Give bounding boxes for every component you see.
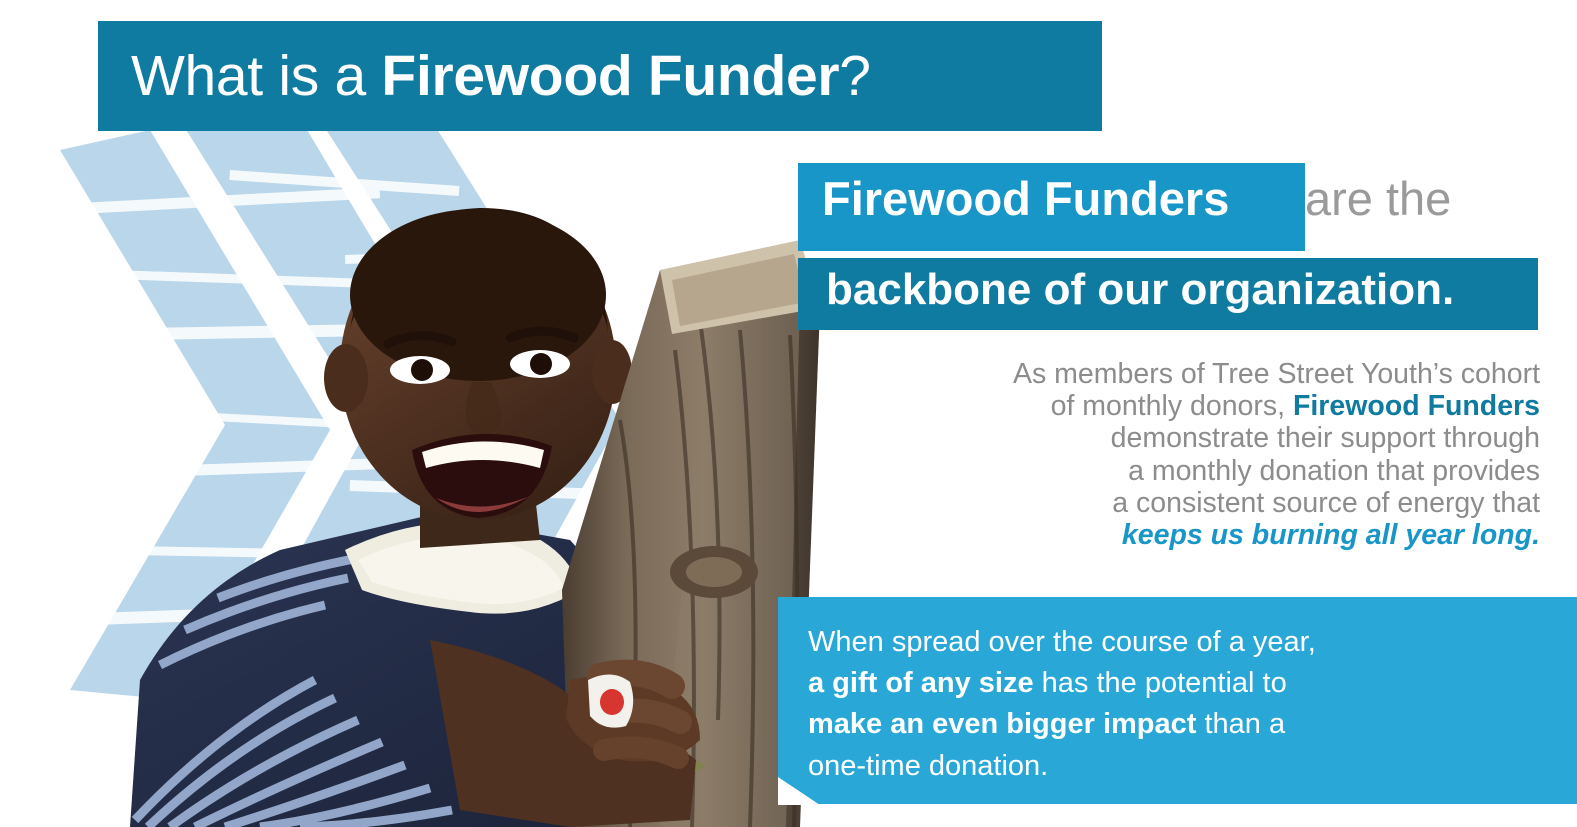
page-title: What is a Firewood Funder? <box>131 48 871 105</box>
bottom-line-2-tail: has the potential to <box>1034 667 1287 699</box>
body-line-1: As members of Tree Street Youth’s cohort <box>880 358 1540 390</box>
body-line-2: of monthly donors, Firewood Funders <box>880 390 1540 422</box>
body-line-5: a consistent source of energy that <box>880 487 1540 519</box>
headline-emphasis: Firewood Funders <box>822 175 1229 222</box>
body-line-4: a monthly donation that provides <box>880 455 1540 487</box>
poster-title-bar: What is a Firewood Funder? <box>98 21 1102 131</box>
body-line-3: demonstrate their support through <box>880 422 1540 454</box>
title-highlight: Firewood Funder <box>381 44 839 108</box>
body-line-6-tagline: keeps us burning all year long. <box>880 519 1540 551</box>
bottom-panel-text: When spread over the course of a year, a… <box>808 622 1508 787</box>
body-line-2-emphasis: Firewood Funders <box>1293 390 1540 422</box>
body-line-2-lead: of monthly donors, <box>1051 390 1293 422</box>
bottom-line-2-emphasis: a gift of any size <box>808 667 1034 699</box>
bottom-line-3: make an even bigger impact than a <box>808 704 1508 745</box>
poster-root: What is a Firewood Funder? Firewood Fund… <box>0 0 1577 827</box>
bottom-line-1: When spread over the course of a year, <box>808 622 1508 663</box>
bottom-line-3-emphasis: make an even bigger impact <box>808 708 1196 740</box>
bottom-line-3-tail: than a <box>1196 708 1285 740</box>
bottom-line-4: one-time donation. <box>808 746 1508 787</box>
headline-tail: are the <box>1305 175 1451 222</box>
bottom-line-2: a gift of any size has the potential to <box>808 663 1508 704</box>
title-prefix: What is a <box>131 44 381 108</box>
headline-line-two: backbone of our organization. <box>826 268 1454 312</box>
title-suffix: ? <box>839 44 870 108</box>
body-paragraph: As members of Tree Street Youth’s cohort… <box>880 358 1540 551</box>
